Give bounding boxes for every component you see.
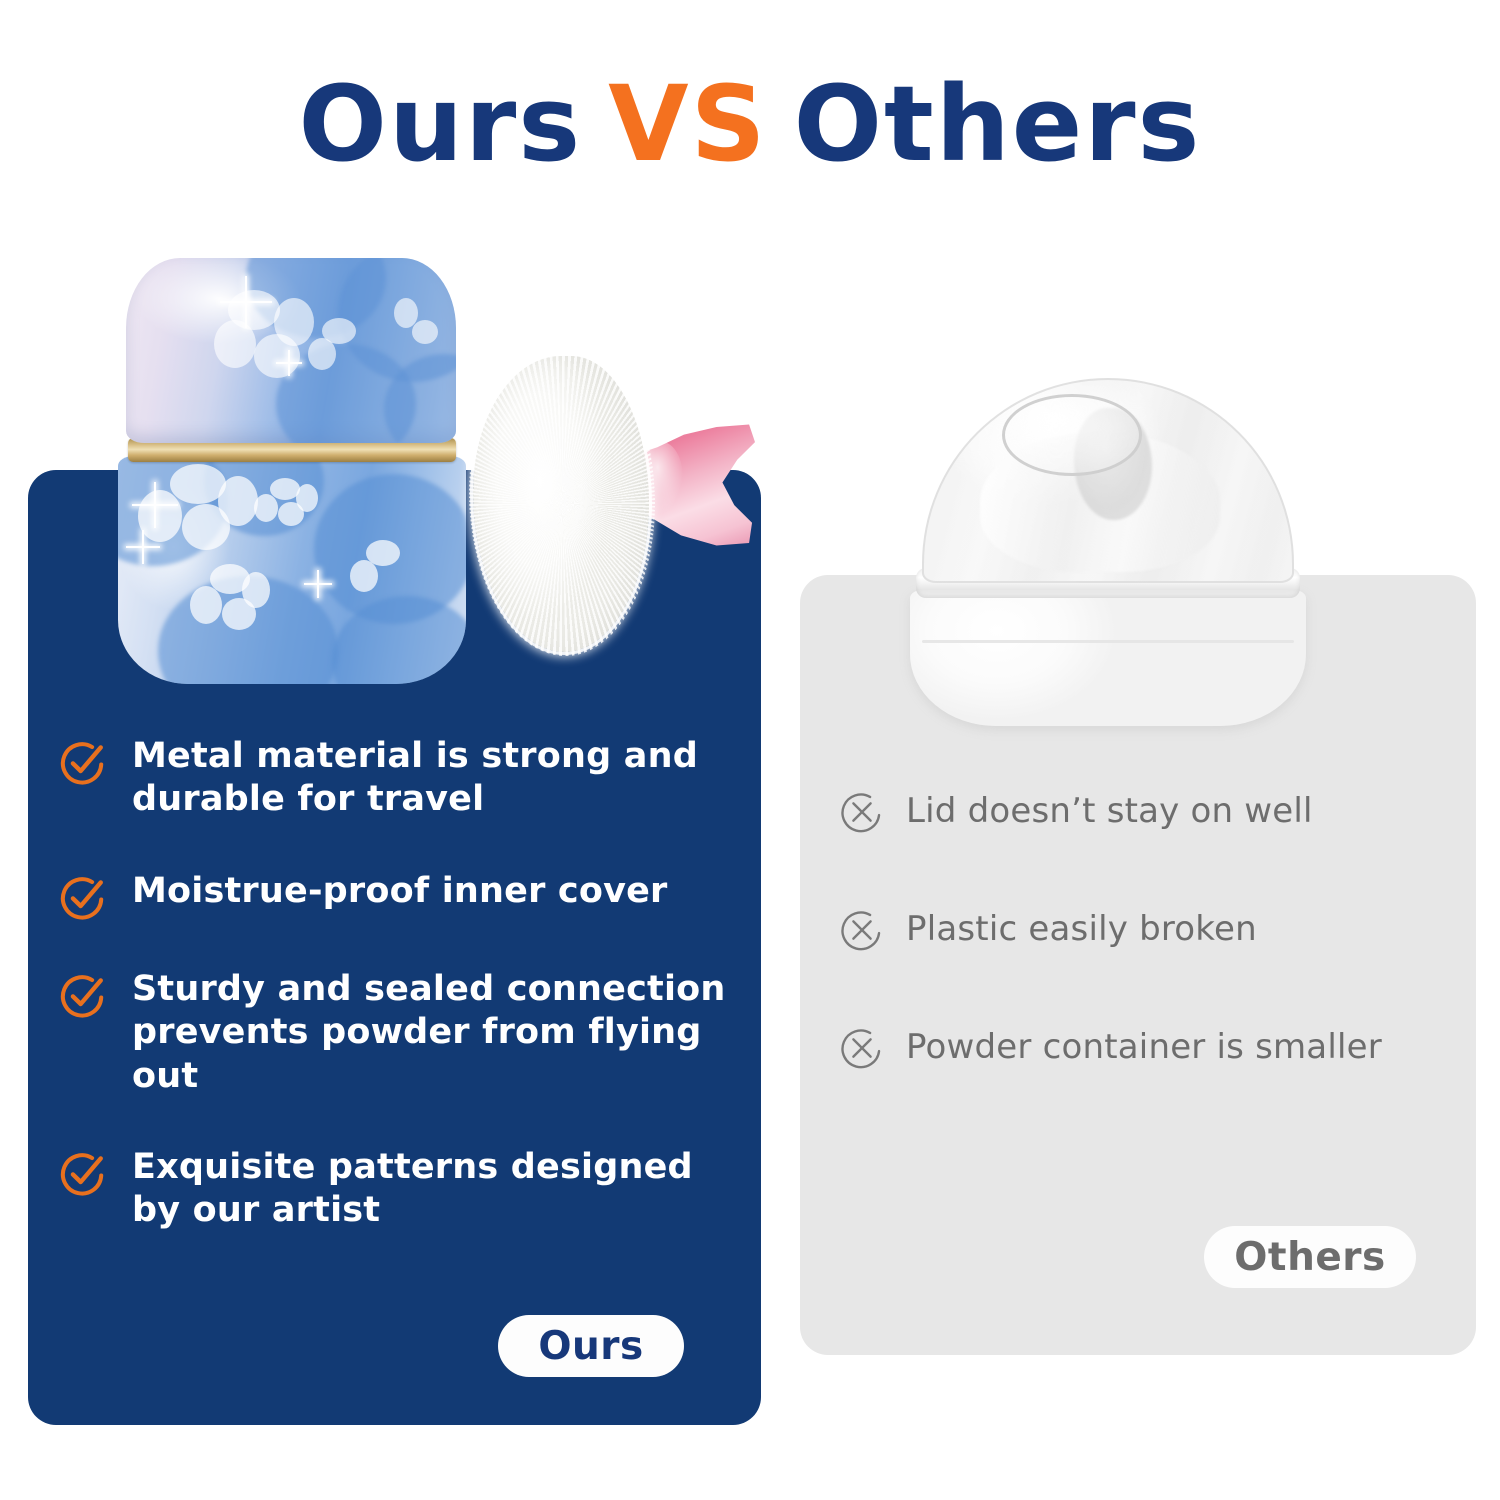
plastic-base [910, 590, 1306, 726]
list-item: Moistrue-proof inner cover [60, 870, 750, 920]
plastic-base-seam [922, 640, 1294, 643]
list-item-label: Plastic easily broken [906, 908, 1257, 950]
cross-circle-icon [840, 1026, 884, 1070]
ours-badge-label: Ours [538, 1324, 643, 1369]
ours-feature-list: Metal material is strong and durable for… [60, 735, 750, 1281]
list-item-label: Powder container is smaller [906, 1026, 1382, 1068]
list-item-label: Moistrue-proof inner cover [132, 870, 668, 913]
list-item-label: Exquisite patterns designed by our artis… [132, 1146, 750, 1233]
comparison-infographic: OursVSOthers Metal material is strong an… [0, 0, 1500, 1500]
others-drawback-list: Lid doesn’t stay on well Plastic easily … [840, 790, 1460, 1144]
list-item: Exquisite patterns designed by our artis… [60, 1146, 750, 1233]
check-circle-icon [60, 874, 106, 920]
dome-circular-grip [1002, 394, 1142, 476]
title-ours-word: Ours [299, 63, 583, 185]
powder-puff-image [455, 350, 755, 660]
list-item-label: Lid doesn’t stay on well [906, 790, 1313, 832]
check-circle-icon [60, 972, 106, 1018]
puff-fuzz-texture [469, 352, 655, 656]
check-circle-icon [60, 1150, 106, 1196]
title-others-word: Others [794, 63, 1202, 185]
list-item-label: Sturdy and sealed connection prevents po… [132, 968, 750, 1098]
ours-product-image [118, 258, 493, 678]
others-badge-label: Others [1234, 1235, 1385, 1280]
list-item: Plastic easily broken [840, 908, 1460, 952]
cross-circle-icon [840, 790, 884, 834]
ours-badge: Ours [498, 1315, 684, 1377]
list-item: Metal material is strong and durable for… [60, 735, 750, 822]
tin-lid [126, 258, 456, 443]
others-badge: Others [1204, 1226, 1416, 1288]
check-circle-icon [60, 739, 106, 785]
page-title: OursVSOthers [0, 72, 1500, 176]
list-item-label: Metal material is strong and durable for… [132, 735, 750, 822]
list-item: Powder container is smaller [840, 1026, 1460, 1070]
clear-dome-lid [922, 378, 1294, 583]
list-item: Lid doesn’t stay on well [840, 790, 1460, 834]
cross-circle-icon [840, 908, 884, 952]
tin-body [118, 456, 466, 684]
title-vs-word: VS [608, 63, 767, 185]
others-product-image [898, 378, 1318, 728]
list-item: Sturdy and sealed connection prevents po… [60, 968, 750, 1098]
